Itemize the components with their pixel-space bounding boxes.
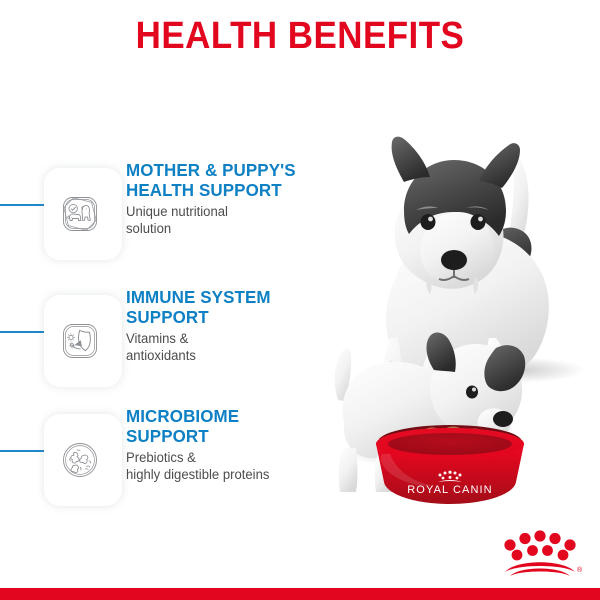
microbiome-bacteria-icon: [56, 436, 104, 484]
benefit-heading: MOTHER & PUPPY'S HEALTH SUPPORT: [126, 160, 325, 200]
benefit-heading: IMMUNE SYSTEM SUPPORT: [126, 287, 325, 327]
bowl-brand-text: ROYAL CANIN: [407, 484, 492, 496]
benefit-heading: MICROBIOME SUPPORT: [126, 406, 325, 446]
benefit-description: Prebiotics & highly digestible proteins: [126, 450, 325, 483]
mother-and-puppy-icon: [56, 190, 104, 238]
health-benefits-page: HEALTH BENEFITS MOTHER: [0, 0, 600, 600]
benefit-block-mother-puppy: MOTHER & PUPPY'S HEALTH SUPPORT Unique n…: [0, 160, 330, 280]
registered-trademark: ®: [577, 566, 582, 574]
benefit-block-microbiome: MICROBIOME SUPPORT Prebiotics & highly d…: [0, 406, 330, 526]
shield-immune-icon: [56, 317, 104, 365]
benefit-description: Vitamins & antioxidants: [126, 331, 325, 364]
royal-canin-crown-logo: ®: [498, 527, 582, 579]
dogs-and-bowl-photo: ROYAL CANIN: [300, 70, 600, 520]
benefit-block-immune-system: IMMUNE SYSTEM SUPPORT Vitamins & antioxi…: [0, 287, 330, 407]
benefit-description: Unique nutritional solution: [126, 204, 325, 237]
bottom-red-bar: [0, 588, 600, 600]
page-title: HEALTH BENEFITS: [24, 14, 576, 58]
